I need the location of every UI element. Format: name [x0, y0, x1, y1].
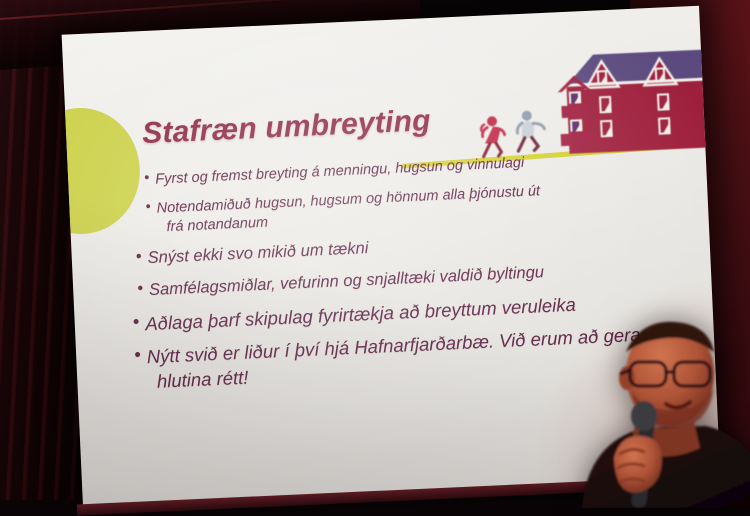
bullet-glyph: •	[135, 248, 142, 265]
bullet-text-wrap: Nýtt svið er liður í því hjá Hafnarfjarð…	[146, 323, 642, 393]
speaker-person	[574, 308, 750, 508]
bullet-glyph: •	[134, 346, 141, 365]
tower-icon	[554, 71, 598, 157]
bullet-glyph: •	[132, 313, 139, 332]
bullet-text-wrap: Notendamiðuð hugsun, hugsum og hönnum al…	[156, 182, 541, 237]
bullet-glyph: •	[144, 171, 150, 186]
bullet-glyph: •	[145, 200, 151, 215]
speaker-body	[582, 322, 750, 508]
bullet-text: Fyrst og fremst breyting á menningu, hug…	[155, 154, 525, 190]
bullet-text: Snýst ekki svo mikið um tækni	[147, 238, 369, 269]
auditorium-background: Stafræn umbreyting	[0, 0, 750, 500]
bullet-text: Samfélagsmiðlar, vefurinn og snjalltæki …	[149, 262, 545, 301]
running-person-red-icon	[478, 115, 510, 160]
bullet-glyph: •	[137, 280, 144, 297]
slide-title: Stafræn umbreyting	[141, 104, 431, 151]
running-person-grey-icon	[514, 109, 548, 156]
